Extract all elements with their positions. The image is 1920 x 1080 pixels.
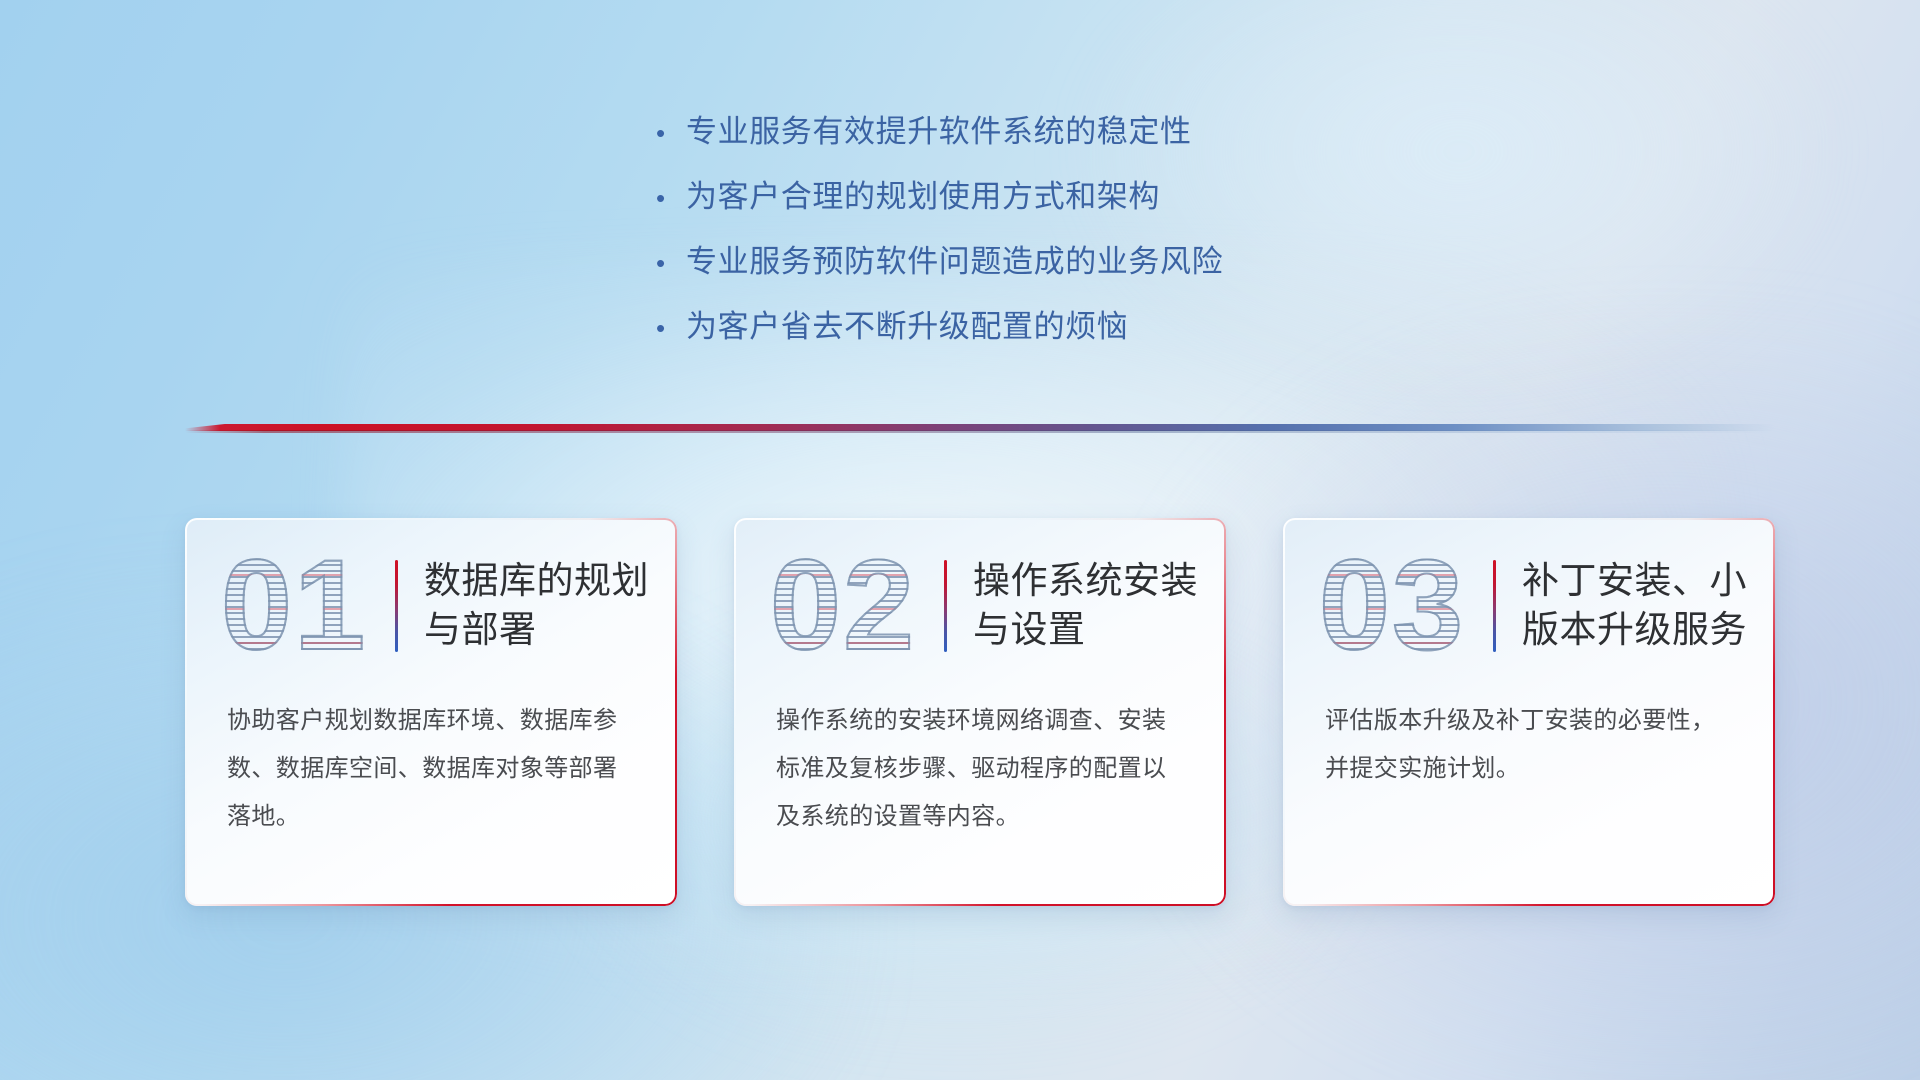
card-header: 01 数据库的规划与部署 <box>185 518 677 693</box>
bullet-label: 为客户合理的规划使用方式和架构 <box>686 171 1160 216</box>
card-accent-rule <box>944 560 947 652</box>
slide-canvas: • 专业服务有效提升软件系统的稳定性 • 为客户合理的规划使用方式和架构 • 专… <box>0 0 1920 1080</box>
service-card-03[interactable]: 03 补丁安装、小版本升级服务 评估版本升级及补丁安装的必要性，并提交实施计划。 <box>1283 518 1775 906</box>
card-header: 03 补丁安装、小版本升级服务 <box>1283 518 1775 693</box>
bullet-item: • 专业服务预防软件问题造成的业务风险 <box>656 236 1476 301</box>
card-accent-rule <box>1493 560 1496 652</box>
bullet-dot-icon: • <box>656 120 686 146</box>
card-title: 补丁安装、小版本升级服务 <box>1522 557 1775 655</box>
bullet-dot-icon: • <box>656 250 686 276</box>
service-card-01[interactable]: 01 数据库的规划与部署 协助客户规划数据库环境、数据库参数、数据库空间、数据库… <box>185 518 677 906</box>
card-description: 协助客户规划数据库环境、数据库参数、数据库空间、数据库对象等部署落地。 <box>185 697 677 841</box>
card-number-01: 01 <box>199 540 389 672</box>
benefits-bullet-list: • 专业服务有效提升软件系统的稳定性 • 为客户合理的规划使用方式和架构 • 专… <box>656 106 1476 366</box>
bullet-dot-icon: • <box>656 185 686 211</box>
bullet-item: • 为客户省去不断升级配置的烦恼 <box>656 301 1476 366</box>
section-divider <box>185 420 1775 436</box>
service-card-list: 01 数据库的规划与部署 协助客户规划数据库环境、数据库参数、数据库空间、数据库… <box>185 518 1775 906</box>
divider-shadow <box>185 430 1775 433</box>
bullet-item: • 专业服务有效提升软件系统的稳定性 <box>656 106 1476 171</box>
card-description: 评估版本升级及补丁安装的必要性，并提交实施计划。 <box>1283 697 1775 793</box>
service-card-02[interactable]: 02 操作系统安装与设置 操作系统的安装环境网络调查、安装标准及复核步骤、驱动程… <box>734 518 1226 906</box>
bullet-label: 专业服务有效提升软件系统的稳定性 <box>686 106 1192 151</box>
divider-line <box>185 424 1775 431</box>
card-title: 数据库的规划与部署 <box>424 557 677 655</box>
bullet-label: 专业服务预防软件问题造成的业务风险 <box>686 236 1223 281</box>
card-header: 02 操作系统安装与设置 <box>734 518 1226 693</box>
card-title: 操作系统安装与设置 <box>973 557 1226 655</box>
card-number-02: 02 <box>748 540 938 672</box>
card-number-03: 03 <box>1297 540 1487 672</box>
bullet-label: 为客户省去不断升级配置的烦恼 <box>686 301 1128 346</box>
bullet-dot-icon: • <box>656 315 686 341</box>
card-description: 操作系统的安装环境网络调查、安装标准及复核步骤、驱动程序的配置以及系统的设置等内… <box>734 697 1226 841</box>
bullet-item: • 为客户合理的规划使用方式和架构 <box>656 171 1476 236</box>
card-accent-rule <box>395 560 398 652</box>
